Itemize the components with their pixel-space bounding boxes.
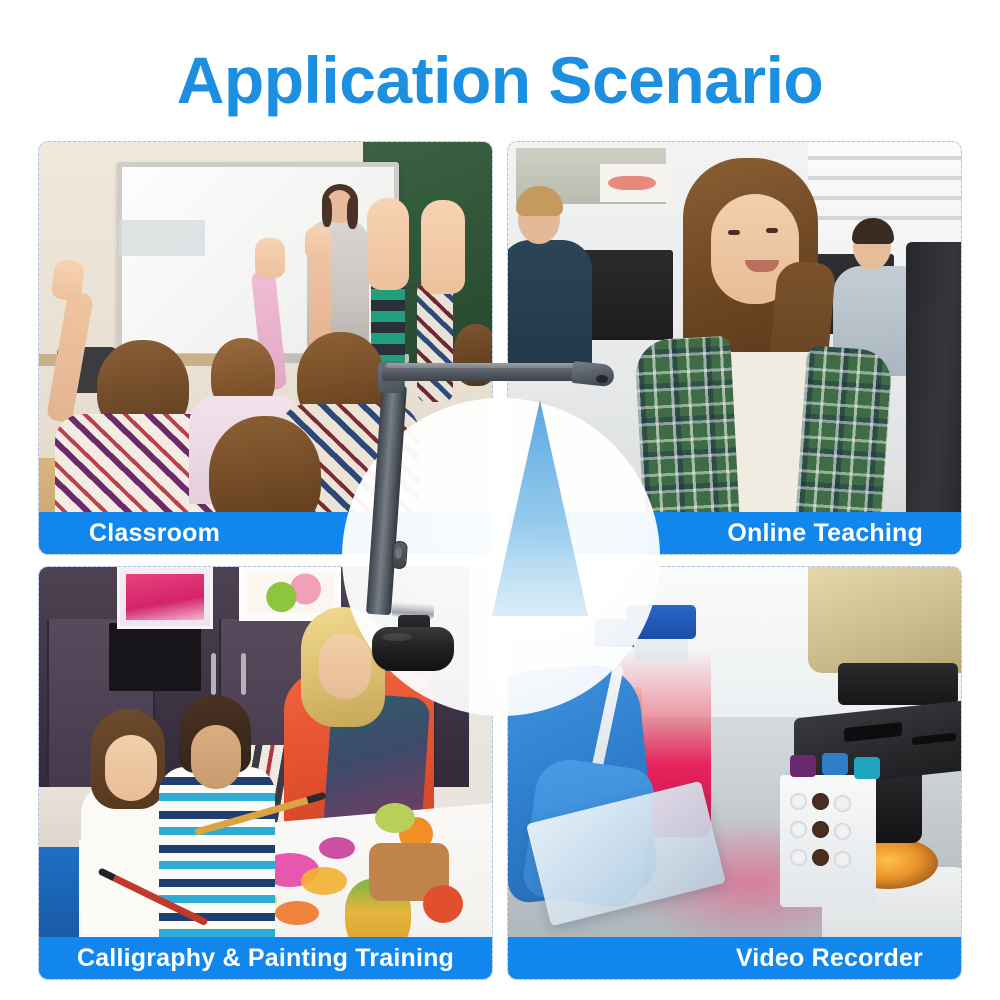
application-scenario-page: Application Scenario: [0, 0, 1000, 1000]
cabinet-black-panel: [109, 623, 201, 691]
woman-eye-right: [766, 228, 778, 233]
rack-well-9: [834, 851, 851, 868]
wall-artwork-1-image: [126, 574, 204, 620]
rack-well-8: [812, 849, 829, 866]
microscope-head: [808, 567, 961, 673]
wall-artwork-1: [117, 567, 213, 629]
rack-well-4: [790, 821, 807, 838]
paint-splash-6: [319, 837, 355, 859]
page-title: Application Scenario: [0, 40, 1000, 120]
scanner-arm-highlight: [386, 363, 592, 368]
poster-art: [608, 176, 656, 190]
rack-well-6: [834, 823, 851, 840]
projection-area: [119, 220, 205, 256]
tube-blue: [822, 753, 848, 775]
scenario-label-bar-video-recorder: Video Recorder: [508, 937, 961, 979]
teacher-hair-right: [347, 197, 358, 229]
paint-splash-4: [275, 901, 319, 925]
cabinet-handle-2: [241, 653, 246, 695]
fruit-grapes: [375, 803, 415, 833]
raised-hand-2: [255, 238, 285, 278]
raised-hand-1: [50, 258, 85, 302]
woman-eye-left: [728, 230, 740, 235]
scanner-camera-head: [571, 361, 615, 387]
document-scanner-device: [300, 355, 630, 655]
reagent-bottle-red-cap: [626, 605, 696, 639]
wall-poster: [600, 164, 670, 202]
microscope-neck: [838, 663, 958, 705]
scenario-label-online-teaching: Online Teaching: [727, 519, 923, 548]
teacher-hair-left: [322, 197, 332, 227]
raised-hand-4: [367, 198, 409, 290]
colleague-left-body: [508, 240, 592, 370]
rack-well-1: [790, 793, 807, 810]
rack-well-3: [834, 795, 851, 812]
scanner-post: [366, 384, 407, 615]
window-blind-3: [808, 196, 961, 200]
scanner-base-highlight: [382, 633, 412, 641]
scenario-label-classroom: Classroom: [89, 519, 220, 548]
fruit-apple: [423, 885, 463, 923]
cabinet-handle-1: [211, 653, 216, 695]
scanner-camera-lens-icon: [596, 375, 608, 383]
raised-hand-3: [305, 226, 331, 260]
scenario-label-video-recorder: Video Recorder: [736, 944, 923, 973]
tube-teal: [854, 757, 880, 779]
rack-well-7: [790, 849, 807, 866]
rack-well-5: [812, 821, 829, 838]
girl-face: [105, 735, 157, 801]
foreground-monitor: [906, 242, 961, 554]
scenario-label-bar-calligraphy-painting: Calligraphy & Painting Training: [39, 937, 492, 979]
boy-shirt: [159, 767, 275, 947]
window-blind-4: [808, 216, 961, 220]
window-blind-1: [808, 156, 961, 160]
window-blind-2: [808, 176, 961, 180]
scenario-label-calligraphy-painting: Calligraphy & Painting Training: [77, 944, 454, 973]
boy-face: [191, 725, 241, 789]
rack-well-2: [812, 793, 829, 810]
paint-splash-2: [301, 867, 347, 895]
tube-purple: [790, 755, 816, 777]
raised-hand-5: [421, 200, 465, 294]
